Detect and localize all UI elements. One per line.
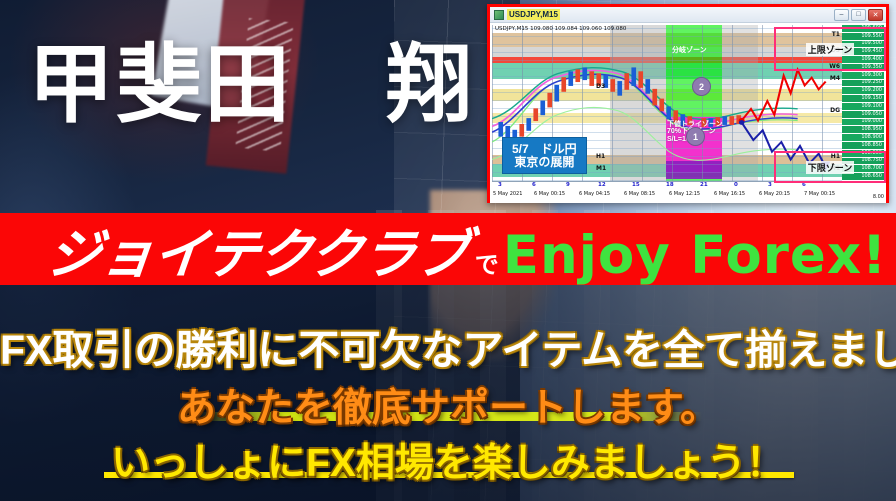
copy-line-2: あなたを徹底サポートします。 [0, 377, 896, 433]
forecast-title-box: 5/7 ドル円 東京の展開 [502, 137, 587, 174]
banner-particle: で [475, 245, 499, 280]
time-dates-row: 5 May 2021 6 May 00:15 6 May 04:15 6 May… [492, 191, 842, 202]
forecast-title-line1: 5/7 ドル円 [512, 143, 577, 156]
time-label: 7 May 00:15 [804, 191, 835, 197]
window-title-text: USDJPY,M15 [507, 9, 560, 20]
mt4-chart-window[interactable]: USDJPY,M15 – □ ✕ [487, 4, 889, 203]
level-label-dg: DG [830, 107, 840, 114]
red-banner: ジョイテククラブ で Enjoy Forex! [0, 213, 896, 285]
slide-canvas: 甲斐田 翔 USDJPY,M15 – □ ✕ [0, 0, 896, 501]
price-tick: 108.950 [842, 126, 884, 134]
level-label-m4: M4 [830, 75, 840, 82]
time-number: 0 [734, 182, 738, 188]
time-number: 3 [498, 182, 502, 188]
lower-zone-label: 下限ゾーン [806, 161, 855, 174]
minimize-button[interactable]: – [834, 9, 849, 21]
time-number: 9 [566, 182, 570, 188]
time-hours-row: 3 6 9 12 15 18 21 0 3 6 [492, 182, 842, 191]
time-number: 18 [666, 182, 674, 188]
time-scale[interactable]: 3 6 9 12 15 18 21 0 3 6 5 May 2021 6 May… [492, 181, 842, 202]
price-tick: 109.200 [842, 87, 884, 95]
time-label: 6 May 08:15 [624, 191, 655, 197]
maximize-button[interactable]: □ [851, 9, 866, 21]
banner-english: Enjoy Forex! [503, 225, 887, 286]
price-tick: 108.850 [842, 142, 884, 150]
time-label: 6 May 20:15 [759, 191, 790, 197]
time-number: 6 [532, 182, 536, 188]
time-number: 21 [700, 182, 708, 188]
price-tick: 109.150 [842, 95, 884, 103]
price-tick: 108.900 [842, 134, 884, 142]
price-tick: 109.300 [842, 72, 884, 80]
family-name: 甲斐田 [28, 42, 292, 128]
upper-zone-highlight: 上限ゾーン [774, 27, 886, 71]
chart-window-icon [494, 10, 504, 20]
branch-zone-label: 分岐ゾーン [672, 45, 707, 55]
given-name: 翔 [386, 42, 474, 128]
time-number: 15 [632, 182, 640, 188]
upper-zone-label: 上限ゾーン [806, 43, 855, 56]
window-title-bar: USDJPY,M15 – □ ✕ [490, 7, 886, 23]
level-label-d3b: D3 [596, 83, 605, 90]
chart-area[interactable]: USDJPY,M15 109.080 109.084 109.060 109.0… [490, 23, 886, 203]
time-number: 12 [598, 182, 606, 188]
presenter-name: 甲斐田 翔 [28, 42, 474, 128]
time-label: 6 May 04:15 [579, 191, 610, 197]
forecast-title-line2: 東京の展開 [512, 156, 577, 169]
level-label-m1: M1 [596, 165, 606, 172]
copy-line-3: いっしょにFX相場を楽しみましょう！ [0, 432, 896, 488]
banner-text: ジョイテククラブ で Enjoy Forex! [0, 210, 887, 289]
time-label: 6 May 00:15 [534, 191, 565, 197]
window-controls: – □ ✕ [834, 9, 884, 21]
ohlc-readout: USDJPY,M15 109.080 109.084 109.060 109.0… [495, 26, 626, 32]
marker-circle-1: 1 [686, 127, 705, 146]
close-button[interactable]: ✕ [868, 9, 883, 21]
lower-zone-highlight: 下限ゾーン [774, 151, 886, 183]
time-label: 5 May 2021 [493, 191, 522, 197]
copy-line-1: FX取引の勝利に不可欠なアイテムを全て揃えました。 [0, 316, 896, 376]
level-label-h1: H1 [596, 153, 605, 160]
banner-club-name: ジョイテククラブ [44, 210, 473, 289]
price-tick: 109.100 [842, 103, 884, 111]
price-tick: 109.050 [842, 111, 884, 119]
last-price-box: 8.00 [873, 194, 884, 200]
time-label: 6 May 12:15 [669, 191, 700, 197]
time-number: 3 [768, 182, 772, 188]
time-label: 6 May 16:15 [714, 191, 745, 197]
price-tick: 109.250 [842, 80, 884, 88]
marker-circle-2: 2 [692, 77, 711, 96]
price-tick: 109.000 [842, 119, 884, 127]
